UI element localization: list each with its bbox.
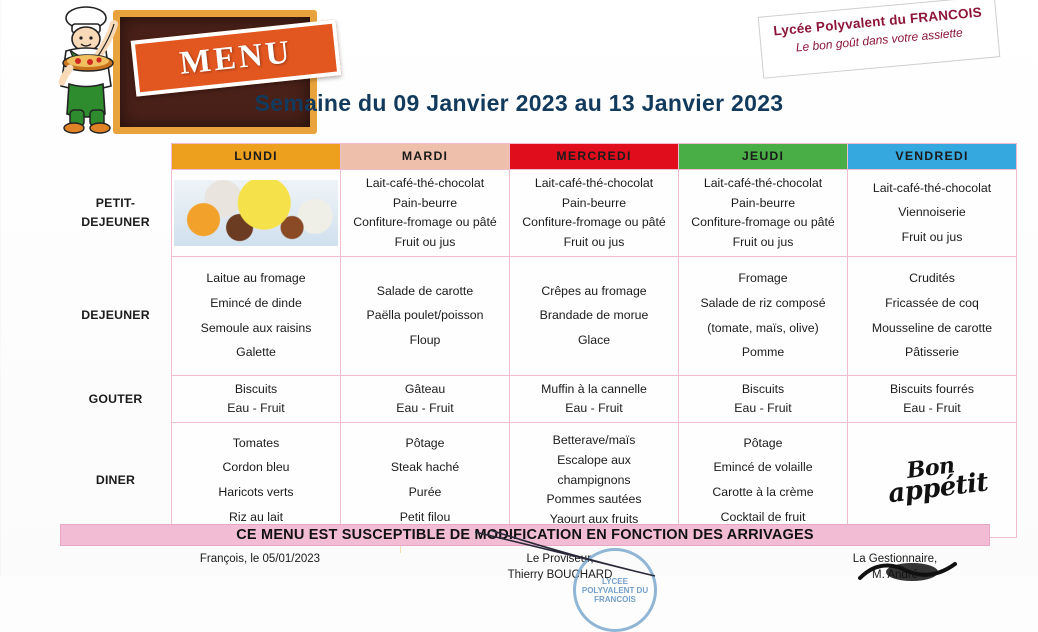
menu-item: Fruit ou jus bbox=[681, 233, 845, 252]
table-row-gouter: GOUTER BiscuitsEau - Fruit GâteauEau - F… bbox=[60, 375, 1017, 422]
menu-item: Biscuits bbox=[174, 380, 338, 399]
menu-item: Viennoiserie bbox=[850, 203, 1014, 222]
day-header-lundi: LUNDI bbox=[172, 144, 341, 170]
menu-item: Pôtage bbox=[681, 434, 845, 453]
page-title: Semaine du 09 Janvier 2023 au 13 Janvier… bbox=[0, 90, 1038, 117]
menu-item: Pain-beurre bbox=[343, 194, 507, 213]
menu-banner-label: MENU bbox=[178, 34, 294, 83]
menu-item: Purée bbox=[343, 483, 507, 502]
menu-item: Galette bbox=[174, 343, 338, 362]
meal-cell-gouter-lundi: BiscuitsEau - Fruit bbox=[172, 375, 341, 422]
bon-appetit-word2: appétit bbox=[887, 471, 989, 507]
menu-item: Eau - Fruit bbox=[174, 399, 338, 418]
menu-item: Emincé de volaille bbox=[681, 458, 845, 477]
meal-cell-gouter-vendredi: Biscuits fourrésEau - Fruit bbox=[848, 375, 1017, 422]
menu-item: Pommes sautées bbox=[512, 490, 676, 509]
menu-item: Salade de carotte bbox=[343, 282, 507, 301]
day-header-mercredi: MERCREDI bbox=[510, 144, 679, 170]
row-label-dejeuner: DEJEUNER bbox=[60, 256, 172, 375]
meal-cell-petit-dejeuner-vendredi: Lait-café-thé-chocolatViennoiserieFruit … bbox=[848, 169, 1017, 256]
menu-item: Salade de riz composé bbox=[681, 294, 845, 313]
menu-item: Paëlla poulet/poisson bbox=[343, 306, 507, 325]
menu-item: Carotte à la crème bbox=[681, 483, 845, 502]
meal-cell-dejeuner-mercredi: Crêpes au fromageBrandade de morueGlace bbox=[510, 256, 679, 375]
menu-item: Lait-café-thé-chocolat bbox=[512, 174, 676, 193]
menu-item: Crudités bbox=[850, 269, 1014, 288]
meal-cell-dejeuner-jeudi: FromageSalade de riz composé(tomate, maï… bbox=[679, 256, 848, 375]
menu-item: Lait-café-thé-chocolat bbox=[681, 174, 845, 193]
day-header-jeudi: JEUDI bbox=[679, 144, 848, 170]
signature-gestionnaire: La Gestionnaire, M. André bbox=[795, 552, 995, 583]
meal-cell-diner-mardi: PôtageSteak hachéPuréePetit filou bbox=[341, 423, 510, 538]
meal-cell-petit-dejeuner-lundi bbox=[172, 169, 341, 256]
meal-cell-petit-dejeuner-mercredi: Lait-café-thé-chocolatPain-beurreConfitu… bbox=[510, 169, 679, 256]
school-identity-box: Lycée Polyvalent du FRANCOIS Le bon goût… bbox=[758, 0, 1001, 79]
meal-cell-diner-lundi: TomatesCordon bleuHaricots vertsRiz au l… bbox=[172, 423, 341, 538]
breakfast-photo bbox=[174, 180, 338, 246]
signature-gestionnaire-title: La Gestionnaire, bbox=[795, 552, 995, 568]
menu-item: Muffin à la cannelle bbox=[512, 380, 676, 399]
meal-cell-diner-jeudi: PôtageEmincé de volailleCarotte à la crè… bbox=[679, 423, 848, 538]
menu-item: Fricassée de coq bbox=[850, 294, 1014, 313]
menu-item: Biscuits fourrés bbox=[850, 380, 1014, 399]
menu-item: Crêpes au fromage bbox=[512, 282, 676, 301]
menu-item: Biscuits bbox=[681, 380, 845, 399]
menu-item: Floup bbox=[343, 331, 507, 350]
day-header-mardi: MARDI bbox=[341, 144, 510, 170]
bon-appetit-graphic: Bon appétit bbox=[875, 451, 990, 508]
menu-item: Gâteau bbox=[343, 380, 507, 399]
menu-item: Eau - Fruit bbox=[512, 399, 676, 418]
meal-cell-gouter-mardi: GâteauEau - Fruit bbox=[341, 375, 510, 422]
meal-cell-diner-mercredi: Betterave/maïsEscalope auxchampignonsPom… bbox=[510, 423, 679, 538]
menu-item: Cordon bleu bbox=[174, 458, 338, 477]
menu-item: Confiture-fromage ou pâté bbox=[343, 213, 507, 232]
meal-cell-petit-dejeuner-jeudi: Lait-café-thé-chocolatPain-beurreConfitu… bbox=[679, 169, 848, 256]
menu-item: Semoule aux raisins bbox=[174, 319, 338, 338]
menu-item: Haricots verts bbox=[174, 483, 338, 502]
weekly-menu-table: LUNDI MARDI MERCREDI JEUDI VENDREDI PETI… bbox=[60, 143, 1017, 538]
row-label-diner: DINER bbox=[60, 423, 172, 538]
menu-item: Laitue au fromage bbox=[174, 269, 338, 288]
table-row-diner: DINER TomatesCordon bleuHaricots vertsRi… bbox=[60, 423, 1017, 538]
menu-item: Steak haché bbox=[343, 458, 507, 477]
menu-item: Lait-café-thé-chocolat bbox=[850, 179, 1014, 198]
signature-gestionnaire-name: M. André bbox=[795, 568, 995, 584]
menu-item: Lait-café-thé-chocolat bbox=[343, 174, 507, 193]
meal-cell-dejeuner-lundi: Laitue au fromageEmincé de dindeSemoule … bbox=[172, 256, 341, 375]
menu-item: Pôtage bbox=[343, 434, 507, 453]
menu-item: Pomme bbox=[681, 343, 845, 362]
day-header-row: LUNDI MARDI MERCREDI JEUDI VENDREDI bbox=[60, 144, 1017, 170]
day-header-vendredi: VENDREDI bbox=[848, 144, 1017, 170]
meal-cell-dejeuner-mardi: Salade de carottePaëlla poulet/poissonFl… bbox=[341, 256, 510, 375]
meal-cell-dejeuner-vendredi: CruditésFricassée de coqMousseline de ca… bbox=[848, 256, 1017, 375]
menu-item: Confiture-fromage ou pâté bbox=[512, 213, 676, 232]
menu-item: Emincé de dinde bbox=[174, 294, 338, 313]
signature-date-line1: François, le 05/01/2023 bbox=[165, 552, 355, 568]
signature-date: François, le 05/01/2023 bbox=[165, 552, 355, 568]
menu-item: Pain-beurre bbox=[681, 194, 845, 213]
table-row-petit-dejeuner: PETIT-DEJEUNER Lait-café-thé-chocolatPai… bbox=[60, 169, 1017, 256]
menu-item: Eau - Fruit bbox=[343, 399, 507, 418]
signature-row: François, le 05/01/2023 Le Proviseur, Th… bbox=[60, 552, 990, 576]
menu-item: Fruit ou jus bbox=[850, 228, 1014, 247]
meal-cell-gouter-jeudi: BiscuitsEau - Fruit bbox=[679, 375, 848, 422]
menu-item: champignons bbox=[512, 471, 676, 490]
row-label-petit-dejeuner: PETIT-DEJEUNER bbox=[60, 169, 172, 256]
menu-item: Fromage bbox=[681, 269, 845, 288]
menu-item: Pâtisserie bbox=[850, 343, 1014, 362]
meal-cell-gouter-mercredi: Muffin à la cannelleEau - Fruit bbox=[510, 375, 679, 422]
official-stamp: LYCEE POLYVALENT DU FRANCOIS bbox=[573, 548, 657, 632]
menu-item: Tomates bbox=[174, 434, 338, 453]
meal-cell-petit-dejeuner-mardi: Lait-café-thé-chocolatPain-beurreConfitu… bbox=[341, 169, 510, 256]
menu-item: Glace bbox=[512, 331, 676, 350]
menu-item: Fruit ou jus bbox=[343, 233, 507, 252]
modification-notice: CE MENU EST SUSCEPTIBLE DE MODIFICATION … bbox=[60, 524, 990, 546]
menu-item: Brandade de morue bbox=[512, 306, 676, 325]
menu-item: Mousseline de carotte bbox=[850, 319, 1014, 338]
menu-item: (tomate, maïs, olive) bbox=[681, 319, 845, 338]
menu-item: Eau - Fruit bbox=[850, 399, 1014, 418]
table-row-dejeuner: DEJEUNER Laitue au fromageEmincé de dind… bbox=[60, 256, 1017, 375]
menu-item: Betterave/maïs bbox=[512, 431, 676, 450]
menu-item: Escalope aux bbox=[512, 451, 676, 470]
menu-item: Fruit ou jus bbox=[512, 233, 676, 252]
menu-item: Pain-beurre bbox=[512, 194, 676, 213]
table-corner bbox=[60, 144, 172, 170]
official-stamp-text: LYCEE POLYVALENT DU FRANCOIS bbox=[576, 577, 654, 604]
menu-item: Eau - Fruit bbox=[681, 399, 845, 418]
menu-item: Confiture-fromage ou pâté bbox=[681, 213, 845, 232]
meal-cell-diner-vendredi: Bon appétit bbox=[848, 423, 1017, 538]
row-label-gouter: GOUTER bbox=[60, 375, 172, 422]
